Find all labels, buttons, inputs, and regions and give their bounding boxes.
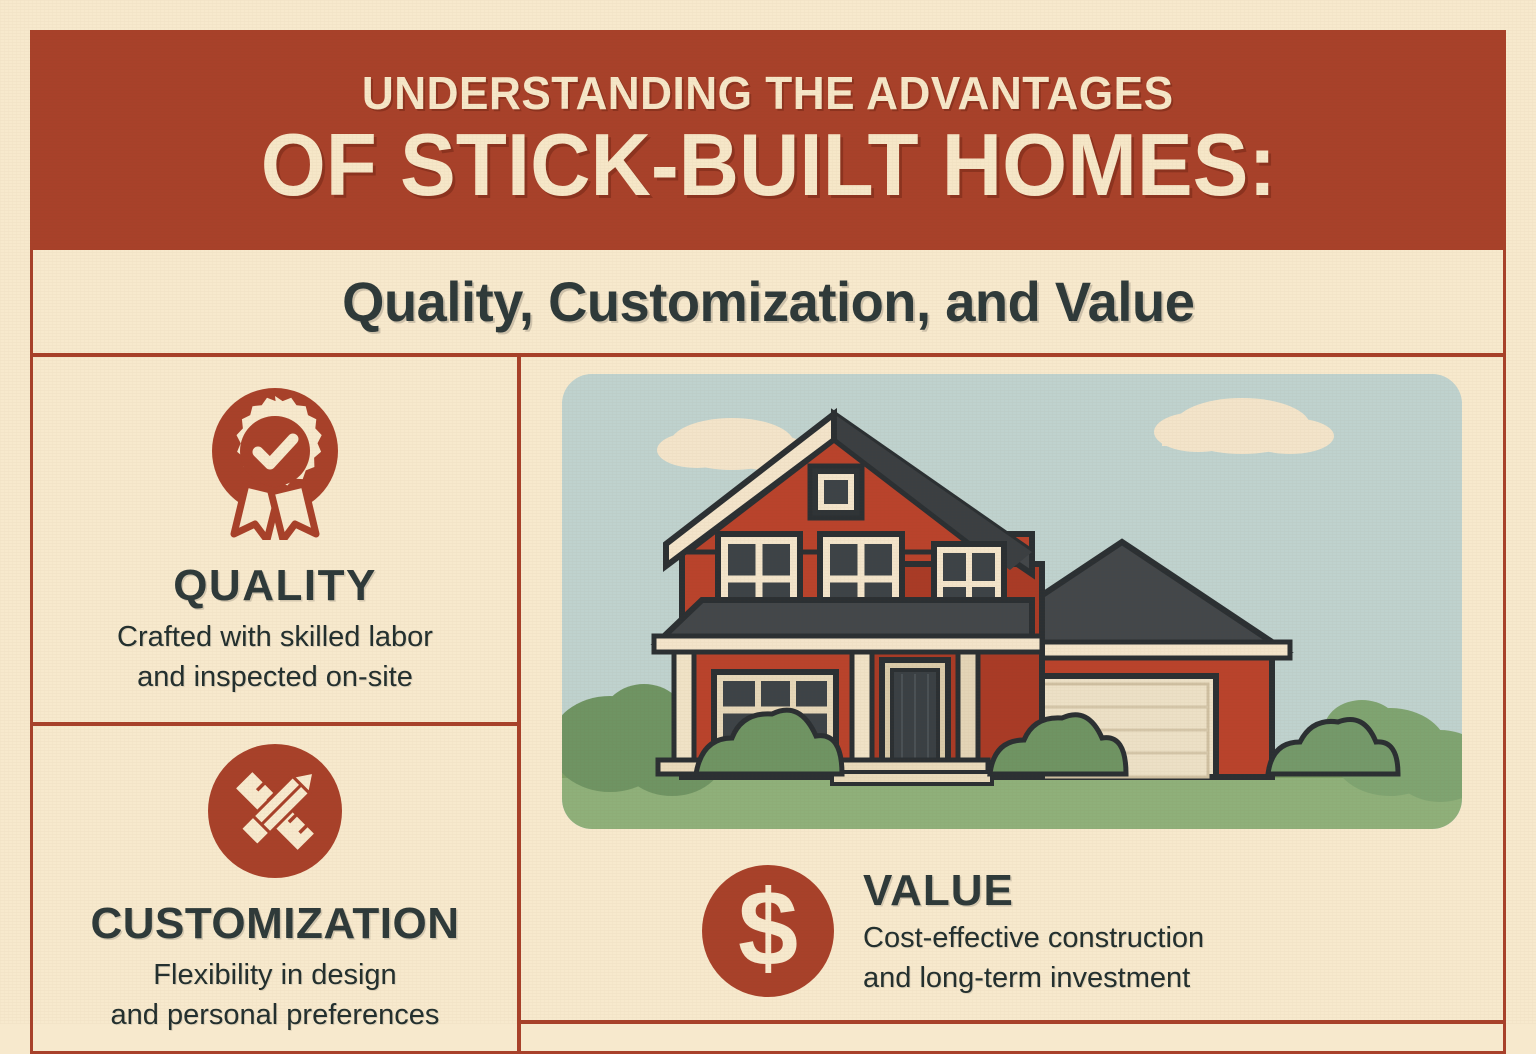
feature-desc-value-line-2: and long-term investment: [863, 958, 1204, 998]
header-band: Understanding the Advantages of Stick-Bu…: [33, 33, 1503, 246]
poster-frame: Understanding the Advantages of Stick-Bu…: [30, 30, 1506, 1054]
infographic-poster: Understanding the Advantages of Stick-Bu…: [0, 0, 1536, 1024]
value-text-block: Value Cost-effective construction and lo…: [863, 868, 1204, 998]
subtitle-band: Quality, Customization, and Value: [33, 246, 1503, 357]
feature-desc-quality: Crafted with skilled labor and inspected…: [117, 617, 433, 697]
feature-desc-customization-line-2: and personal preferences: [111, 995, 440, 1035]
feature-card-value: $ Value Cost-effective construction and …: [521, 846, 1503, 1024]
feature-card-customization: Customization Flexibility in design and …: [33, 726, 517, 1054]
feature-desc-quality-line-1: Crafted with skilled labor: [117, 617, 433, 657]
poster-subtitle: Quality, Customization, and Value: [342, 269, 1194, 334]
feature-title-quality: Quality: [173, 561, 377, 611]
left-column: Quality Crafted with skilled labor and i…: [33, 357, 521, 1051]
feature-desc-customization-line-1: Flexibility in design: [111, 955, 440, 995]
body-area: Quality Crafted with skilled labor and i…: [33, 357, 1503, 1051]
feature-title-customization: Customization: [90, 899, 459, 949]
stick-built-house-illustration: [562, 374, 1462, 829]
feature-desc-value: Cost-effective construction and long-ter…: [863, 918, 1204, 998]
feature-title-value: Value: [863, 868, 1014, 914]
poster-title-line-2: of Stick-Built Homes:: [260, 120, 1275, 210]
feature-card-quality: Quality Crafted with skilled labor and i…: [33, 357, 517, 726]
svg-text:$: $: [738, 867, 798, 988]
award-ribbon-icon: [202, 388, 348, 545]
illustration-cell: [521, 357, 1503, 846]
feature-desc-customization: Flexibility in design and personal prefe…: [111, 955, 440, 1035]
right-column: $ Value Cost-effective construction and …: [521, 357, 1503, 1051]
feature-desc-value-line-1: Cost-effective construction: [863, 918, 1204, 958]
ruler-pencil-icon: [208, 744, 342, 883]
feature-desc-quality-line-2: and inspected on-site: [117, 657, 433, 697]
poster-title-line-1: Understanding the Advantages: [362, 69, 1174, 117]
dollar-sign-icon: $: [701, 864, 835, 1003]
